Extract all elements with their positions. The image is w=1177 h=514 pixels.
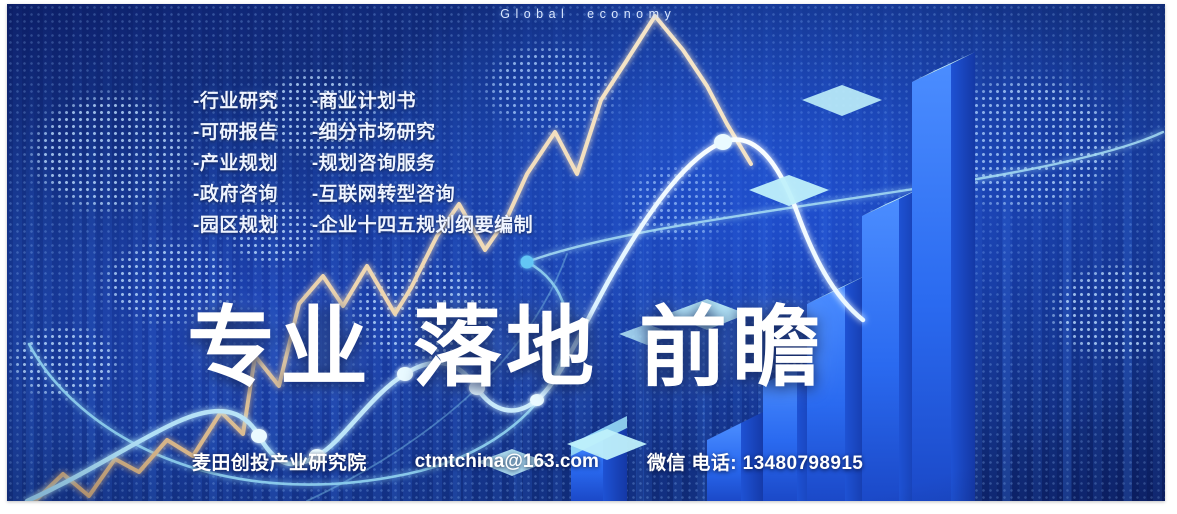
list-item: -企业十四五规划纲要编制 (312, 213, 533, 239)
contact-email[interactable]: ctmtchina@163.com (415, 451, 599, 473)
promo-banner: G l o b a l e c o n o m y -行业研究 -可研报告 -产… (7, 4, 1165, 501)
list-item: -政府咨询 (193, 182, 278, 208)
list-item: -细分市场研究 (312, 120, 533, 146)
headline-word-two: 落地 (413, 304, 599, 392)
organization-name: 麦田创投产业研究院 (192, 448, 367, 475)
service-lists: -行业研究 -可研报告 -产业规划 -政府咨询 -园区规划 -商业计划书 -细分… (193, 89, 533, 239)
list-item: -商业计划书 (312, 89, 533, 115)
background-vignette (7, 4, 1165, 501)
headline-word-three: 前瞻 (639, 304, 825, 392)
list-item: -行业研究 (193, 89, 278, 115)
kicker-global-economy: G l o b a l e c o n o m y (7, 7, 1165, 21)
list-item: -园区规划 (193, 213, 278, 239)
service-list-column-two: -商业计划书 -细分市场研究 -规划咨询服务 -互联网转型咨询 -企业十四五规划… (312, 89, 533, 239)
footer-contact-row: 麦田创投产业研究院 ctmtchina@163.com 微信 电话: 13480… (192, 448, 863, 475)
headline: 专业 落地 前瞻 (187, 304, 825, 392)
list-item: -规划咨询服务 (312, 151, 533, 177)
service-list-column-one: -行业研究 -可研报告 -产业规划 -政府咨询 -园区规划 (193, 89, 278, 239)
contact-phone: 微信 电话: 13480798915 (647, 448, 863, 475)
headline-word-one: 专业 (187, 304, 373, 392)
list-item: -互联网转型咨询 (312, 182, 533, 208)
list-item: -产业规划 (193, 151, 278, 177)
list-item: -可研报告 (193, 120, 278, 146)
